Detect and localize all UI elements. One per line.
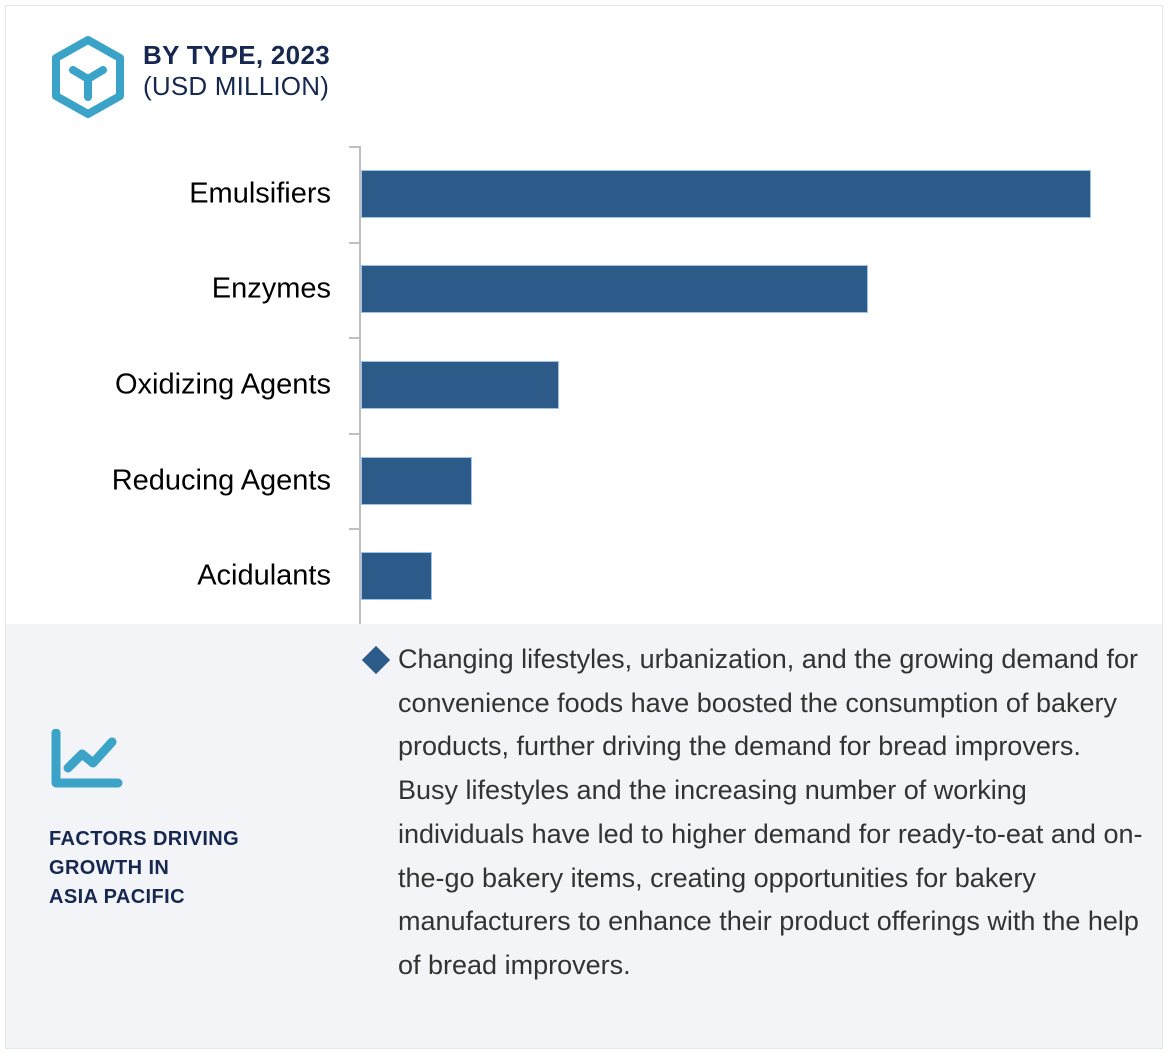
axis-tick bbox=[349, 528, 360, 530]
category-axis-labels: EmulsifiersEnzymesOxidizing AgentsReduci… bbox=[6, 138, 331, 616]
bar-emulsifiers bbox=[361, 170, 1091, 218]
insight-body-text: Changing lifestyles, urbanization, and t… bbox=[398, 638, 1148, 988]
axis-tick bbox=[349, 146, 360, 148]
bar-series bbox=[361, 146, 1163, 624]
bar-enzymes bbox=[361, 265, 868, 313]
bar-oxidizing-agents bbox=[361, 361, 559, 409]
bar-acidulants bbox=[361, 552, 432, 600]
insight-panel-left: FACTORS DRIVING GROWTH IN ASIA PACIFIC bbox=[49, 729, 349, 912]
bar-chart: EmulsifiersEnzymesOxidizing AgentsReduci… bbox=[6, 138, 1163, 630]
axis-tick bbox=[349, 433, 360, 435]
insight-panel-body: Changing lifestyles, urbanization, and t… bbox=[366, 638, 1148, 988]
category-label: Oxidizing Agents bbox=[115, 371, 331, 400]
axis-tick bbox=[349, 337, 360, 339]
axis-tick bbox=[349, 242, 360, 244]
chart-title-block: BY TYPE, 2023 (USD MILLION) bbox=[143, 34, 330, 101]
line-chart-trend-icon bbox=[49, 729, 123, 791]
heading-line-3: ASIA PACIFIC bbox=[49, 883, 349, 912]
category-label: Enzymes bbox=[212, 275, 331, 304]
category-label: Reducing Agents bbox=[112, 466, 331, 495]
category-label: Emulsifiers bbox=[189, 179, 331, 208]
chart-title: BY TYPE, 2023 bbox=[143, 40, 330, 71]
bar-reducing-agents bbox=[361, 457, 472, 505]
diamond-bullet-icon bbox=[362, 646, 390, 674]
chart-header: BY TYPE, 2023 (USD MILLION) bbox=[49, 34, 330, 118]
hexagon-y-icon bbox=[49, 36, 127, 118]
heading-line-2: GROWTH IN bbox=[49, 854, 349, 883]
infographic-card: BY TYPE, 2023 (USD MILLION) EmulsifiersE… bbox=[5, 5, 1163, 1049]
heading-line-1: FACTORS DRIVING bbox=[49, 825, 349, 854]
insight-panel-heading: FACTORS DRIVING GROWTH IN ASIA PACIFIC bbox=[49, 825, 349, 912]
chart-subtitle: (USD MILLION) bbox=[143, 71, 330, 102]
category-label: Acidulants bbox=[197, 562, 331, 591]
insight-panel: FACTORS DRIVING GROWTH IN ASIA PACIFIC C… bbox=[6, 624, 1163, 1049]
